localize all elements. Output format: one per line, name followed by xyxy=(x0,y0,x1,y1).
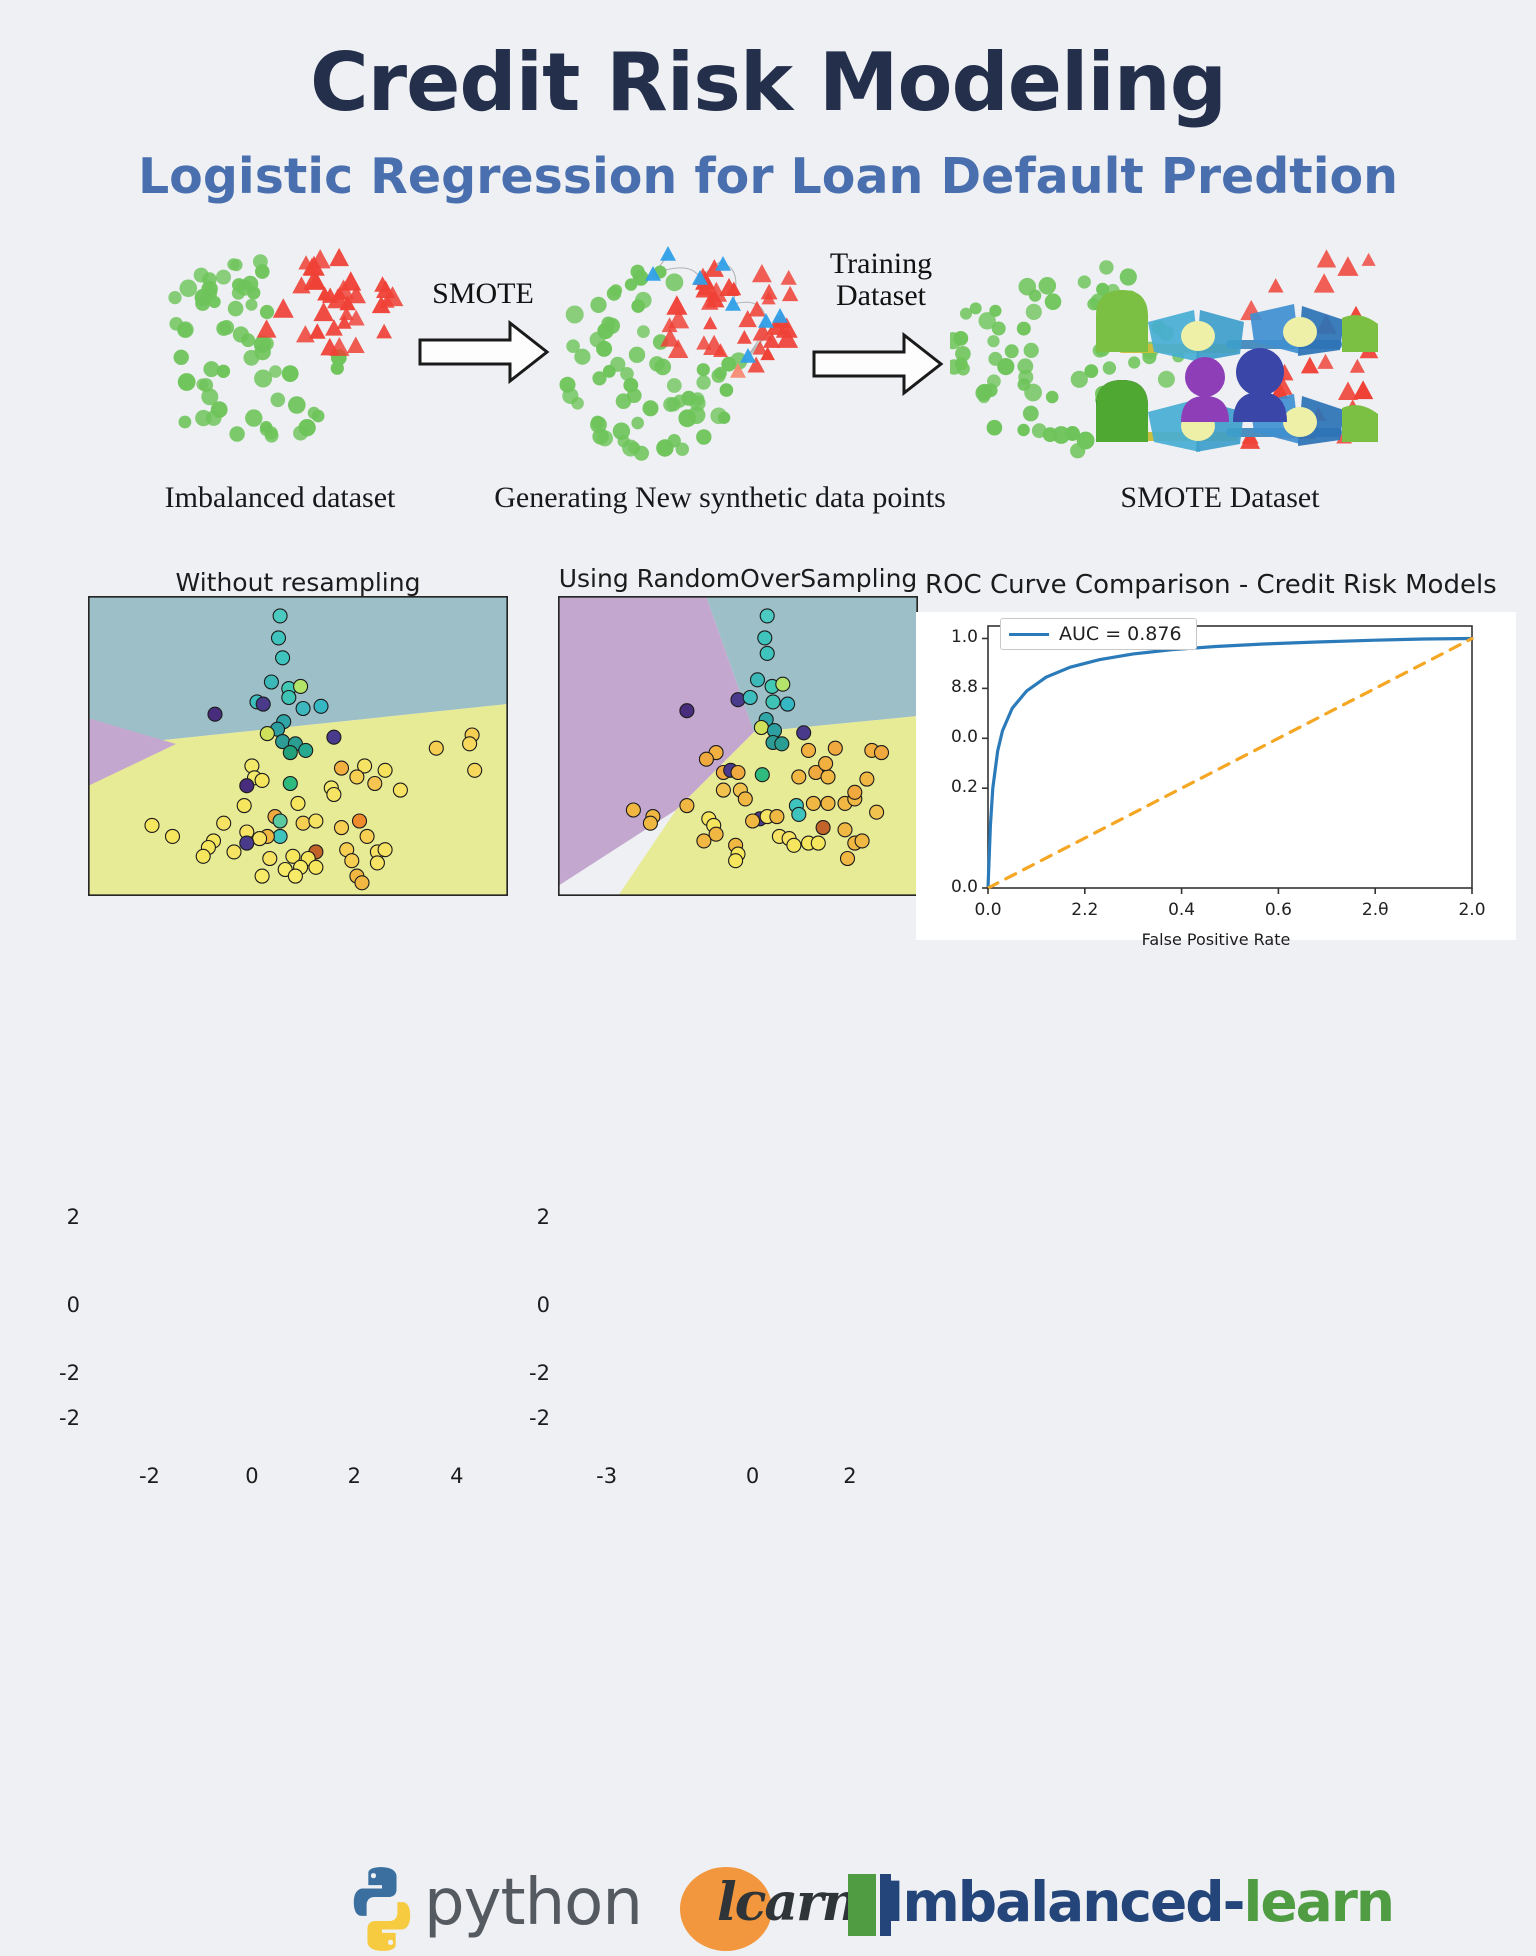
y-tick-label: -2 xyxy=(506,1406,550,1430)
roc-curve-plot xyxy=(916,612,1516,940)
roc-x-tick: 0.6 xyxy=(1256,900,1300,920)
roc-legend-label: AUC = 0.876 xyxy=(1059,623,1182,645)
roc-x-tick: 2.2 xyxy=(1063,900,1107,920)
imb-dark-text: Imbalanced- xyxy=(884,1870,1243,1934)
python-logo-icon xyxy=(334,1862,430,1956)
x-tick-label: -2 xyxy=(124,1464,174,1488)
x-tick-label: 0 xyxy=(227,1464,277,1488)
roc-chart-card xyxy=(916,612,1516,940)
panel-caption-synthetic: Generating New synthetic data points xyxy=(460,481,980,515)
imb-green-text: learn xyxy=(1243,1870,1393,1934)
roc-y-tick: 8.8 xyxy=(932,677,978,697)
y-tick-label: 2 xyxy=(506,1205,550,1229)
roc-y-tick: 0.0 xyxy=(932,727,978,747)
panel-caption-imbalanced: Imbalanced dataset xyxy=(40,481,520,515)
poster-canvas: Credit Risk Modeling Logistic Regression… xyxy=(0,0,1536,1024)
y-tick-label: 0 xyxy=(36,1293,80,1317)
python-logo-text: python xyxy=(424,1866,642,1940)
roc-x-tick: 2.θ xyxy=(1353,900,1397,920)
y-tick-label: 2 xyxy=(36,1205,80,1229)
training-dataset-arrow-label: Training Dataset xyxy=(796,248,966,311)
roc-legend-swatch xyxy=(1009,633,1049,636)
person-purple-head xyxy=(1185,357,1225,397)
roc-x-tick: 0.0 xyxy=(966,900,1010,920)
x-tick-label: -3 xyxy=(582,1464,632,1488)
imbalanced-dataset-cloud xyxy=(140,236,420,466)
x-tick-label: 4 xyxy=(432,1464,482,1488)
y-tick-label: -2 xyxy=(36,1361,80,1385)
x-tick-label: 0 xyxy=(728,1464,778,1488)
roc-y-tick: 0.2 xyxy=(932,777,978,797)
y-tick-label: -2 xyxy=(36,1406,80,1430)
y-tick-label: -2 xyxy=(506,1361,550,1385)
imbalanced-learn-logo-text: Imbalanced-learn xyxy=(884,1870,1393,1934)
page-subtitle: Logistic Regression for Loan Default Pre… xyxy=(0,148,1536,205)
scatter-plot-random-oversampling xyxy=(558,596,918,896)
plot-title-without-resampling: Without resampling xyxy=(88,568,508,597)
scatter-plot-without-resampling xyxy=(88,596,508,896)
synthetic-points-cloud xyxy=(548,236,838,466)
roc-x-tick: 0.4 xyxy=(1160,900,1204,920)
person-purple-body xyxy=(1181,396,1229,422)
plot-title-random-oversampling: Using RandomOverSampling xyxy=(548,564,928,593)
smote-pipeline-diagram: Imbalanced dataset SMOTE Generating New … xyxy=(0,236,1536,536)
roc-x-tick: 2.0 xyxy=(1450,900,1494,920)
smote-arrow-label: SMOTE xyxy=(398,278,568,310)
panel-caption-smote: SMOTE Dataset xyxy=(1010,481,1430,515)
person-blue-head xyxy=(1236,348,1284,396)
roc-chart-title: ROC Curve Comparison - Credit Risk Model… xyxy=(925,570,1497,600)
scikit-learn-logo-text: lcarn xyxy=(717,1872,857,1933)
smote-dataset-cloud xyxy=(950,236,1380,466)
x-tick-label: 2 xyxy=(329,1464,379,1488)
y-tick-label: 0 xyxy=(506,1293,550,1317)
tech-logos-row: python lcarn Imbalanced-learn xyxy=(0,930,1536,1024)
smote-arrow xyxy=(418,320,550,389)
roc-y-tick: 1.0 xyxy=(932,627,978,647)
roc-legend: AUC = 0.876 xyxy=(1000,618,1197,650)
x-tick-label: 2 xyxy=(825,1464,875,1488)
training-dataset-arrow xyxy=(812,332,944,401)
roc-y-tick: 0.0 xyxy=(932,877,978,897)
page-title: Credit Risk Modeling xyxy=(0,36,1536,129)
